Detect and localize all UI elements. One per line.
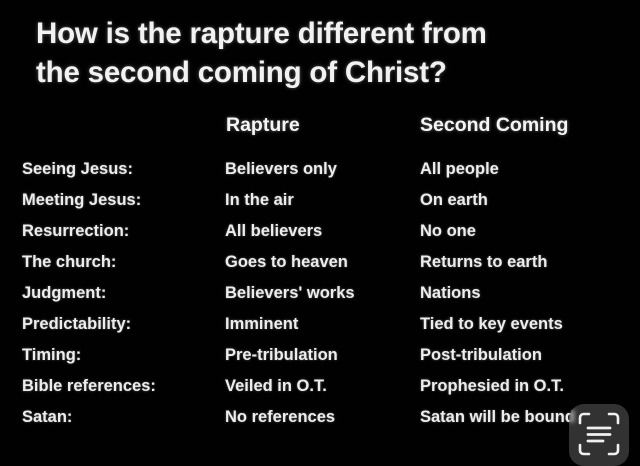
row-label: Meeting Jesus: xyxy=(22,189,141,211)
row-label: The church: xyxy=(22,251,116,273)
row-label: Timing: xyxy=(22,344,81,366)
row-label: Predictability: xyxy=(22,313,131,335)
row-value-second-coming: Post-tribulation xyxy=(420,344,542,366)
row-value-rapture: Veiled in O.T. xyxy=(225,375,327,397)
row-value-second-coming: Nations xyxy=(420,282,481,304)
column-header-second-coming: Second Coming xyxy=(420,112,568,138)
table-row: Timing: Pre-tribulation Post-tribulation xyxy=(0,344,640,375)
row-value-rapture: In the air xyxy=(225,189,294,211)
table-row: Meeting Jesus: In the air On earth xyxy=(0,189,640,220)
page-title-line-2: the second coming of Christ? xyxy=(36,53,616,92)
row-value-rapture: Believers' works xyxy=(225,282,355,304)
table-row: Resurrection: All believers No one xyxy=(0,220,640,251)
row-value-second-coming: Tied to key events xyxy=(420,313,563,335)
row-value-rapture: Imminent xyxy=(225,313,298,335)
table-header-row: Rapture Second Coming xyxy=(0,112,640,158)
screenshot-canvas: How is the rapture different from the se… xyxy=(0,0,640,466)
table-row: Satan: No references Satan will be bound xyxy=(0,406,640,437)
row-value-rapture: Pre-tribulation xyxy=(225,344,338,366)
row-value-second-coming: All people xyxy=(420,158,499,180)
row-label: Judgment: xyxy=(22,282,106,304)
row-label: Satan: xyxy=(22,406,72,428)
row-label: Bible references: xyxy=(22,375,156,397)
column-header-rapture: Rapture xyxy=(226,112,300,138)
page-title: How is the rapture different from the se… xyxy=(36,14,616,92)
row-value-second-coming: No one xyxy=(420,220,476,242)
table-row: Judgment: Believers' works Nations xyxy=(0,282,640,313)
row-value-second-coming: Prophesied in O.T. xyxy=(420,375,564,397)
table-row: Bible references: Veiled in O.T. Prophes… xyxy=(0,375,640,406)
row-value-rapture: No references xyxy=(225,406,335,428)
table-row: Seeing Jesus: Believers only All people xyxy=(0,158,640,189)
row-value-second-coming: On earth xyxy=(420,189,488,211)
table-row: The church: Goes to heaven Returns to ea… xyxy=(0,251,640,282)
row-value-rapture: All believers xyxy=(225,220,322,242)
row-value-second-coming: Satan will be bound xyxy=(420,406,575,428)
page-title-line-1: How is the rapture different from xyxy=(36,14,616,53)
row-value-rapture: Believers only xyxy=(225,158,337,180)
comparison-table: Rapture Second Coming Seeing Jesus: Beli… xyxy=(0,112,640,437)
live-text-scan-button[interactable] xyxy=(569,404,629,466)
row-label: Resurrection: xyxy=(22,220,129,242)
row-value-rapture: Goes to heaven xyxy=(225,251,348,273)
live-text-scan-icon xyxy=(577,411,621,457)
row-value-second-coming: Returns to earth xyxy=(420,251,547,273)
row-label: Seeing Jesus: xyxy=(22,158,133,180)
table-row: Predictability: Imminent Tied to key eve… xyxy=(0,313,640,344)
